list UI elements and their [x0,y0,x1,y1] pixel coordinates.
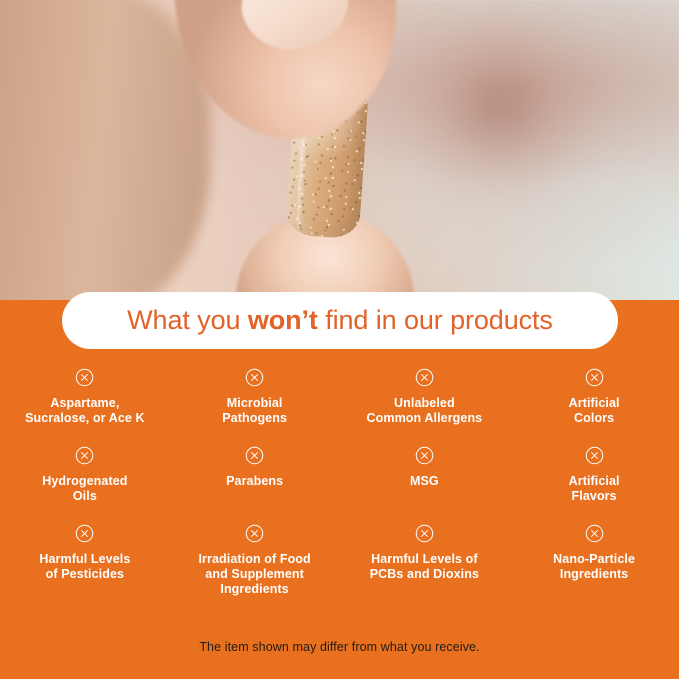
list-item-label: Microbial Pathogens [222,396,287,426]
list-item: Artificial Colors [509,368,679,426]
list-item: Parabens [170,446,340,504]
list-item-label: Nano-Particle Ingredients [553,552,635,582]
list-item: Hydrogenated Oils [0,446,170,504]
list-item: Unlabeled Common Allergens [340,368,510,426]
circle-x-icon [415,368,434,387]
circle-x-icon [75,524,94,543]
disclaimer-text: The item shown may differ from what you … [0,640,679,654]
list-item: Microbial Pathogens [170,368,340,426]
circle-x-icon [415,524,434,543]
circle-x-icon [75,368,94,387]
list-item: Irradiation of Food and Supplement Ingre… [170,524,340,597]
circle-x-icon [245,524,264,543]
list-item-label: Artificial Flavors [569,474,620,504]
circle-x-icon [585,368,604,387]
list-item-label: Unlabeled Common Allergens [367,396,483,426]
list-item-label: Harmful Levels of Pesticides [39,552,130,582]
list-item: Artificial Flavors [509,446,679,504]
headline-banner: What you won’t find in our products [62,292,618,349]
page-title: What you won’t find in our products [127,305,553,336]
headline-emphasis: won’t [248,305,318,335]
list-item: Harmful Levels of Pesticides [0,524,170,597]
circle-x-icon [75,446,94,465]
circle-x-icon [415,446,434,465]
circle-x-icon [585,446,604,465]
product-photo [0,0,679,300]
list-item-label: Hydrogenated Oils [42,474,127,504]
hand-icon [0,0,210,300]
list-item-label: Artificial Colors [569,396,620,426]
headline-suffix: find in our products [318,305,553,335]
list-item-label: MSG [410,474,439,489]
list-item: MSG [340,446,510,504]
list-item-label: Irradiation of Food and Supplement Ingre… [198,552,310,597]
circle-x-icon [245,368,264,387]
list-item: Nano-Particle Ingredients [509,524,679,597]
list-item-label: Aspartame, Sucralose, or Ace K [25,396,145,426]
list-item-label: Parabens [226,474,283,489]
circle-x-icon [245,446,264,465]
circle-x-icon [585,524,604,543]
list-item: Harmful Levels of PCBs and Dioxins [340,524,510,597]
list-item: Aspartame, Sucralose, or Ace K [0,368,170,426]
list-item-label: Harmful Levels of PCBs and Dioxins [370,552,479,582]
headline-prefix: What you [127,305,248,335]
photo-bokeh-blob [392,8,608,206]
product-claims-banner: What you won’t find in our products Aspa… [0,0,679,679]
excluded-ingredients-grid: Aspartame, Sucralose, or Ace K Microbial… [0,368,679,597]
